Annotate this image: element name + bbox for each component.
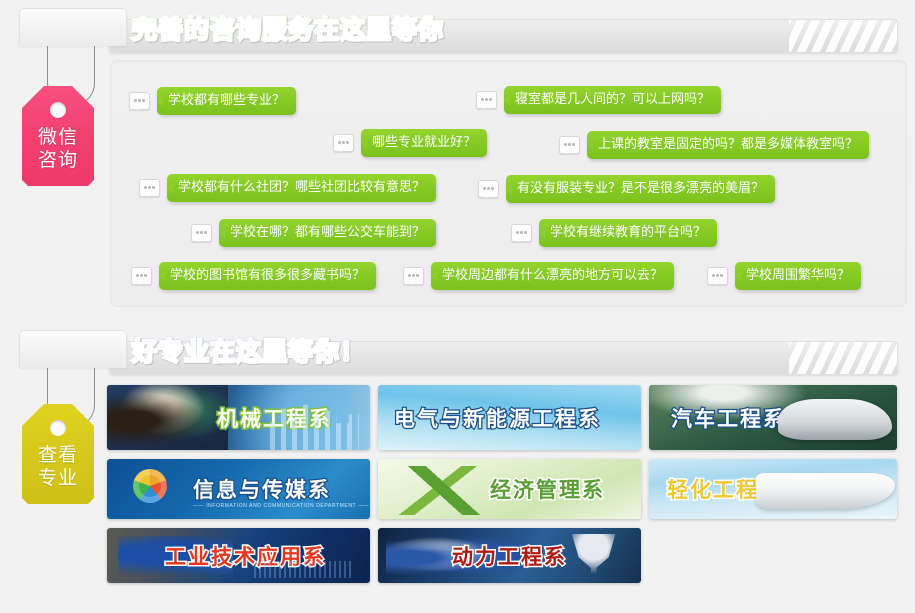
- speech-bubble-icon: [333, 134, 354, 152]
- department-card[interactable]: 电气与新能源工程系: [378, 385, 641, 450]
- chat-question-text: 有没有服装专业？是不是很多漂亮的美眉？: [506, 175, 775, 203]
- chat-question-row[interactable]: 哪些专业就业好？: [333, 129, 487, 157]
- chat-question-text: 学校周边都有什么漂亮的地方可以去？: [431, 262, 674, 290]
- speech-bubble-icon: [559, 136, 580, 154]
- majors-header-tab: [19, 330, 127, 368]
- chat-question-row[interactable]: 有没有服装专业？是不是很多漂亮的美眉？: [478, 175, 775, 203]
- chat-question-row[interactable]: 上课的教室是固定的吗？都是多媒体教室吗？: [559, 131, 869, 159]
- chat-question-text: 学校的图书馆有很多很多藏书吗？: [159, 262, 376, 290]
- department-card[interactable]: 机械工程系: [107, 385, 370, 450]
- department-name: 机械工程系: [217, 403, 332, 433]
- tag-hole-icon-2: [50, 420, 66, 436]
- department-card[interactable]: 轻化工程系: [649, 459, 897, 519]
- tag-hole-icon: [50, 102, 66, 118]
- speech-bubble-icon: [139, 179, 160, 197]
- chat-question-row[interactable]: 学校都有哪些专业？: [129, 87, 296, 115]
- chat-question-row[interactable]: 寝室都是几人间的？可以上网吗？: [476, 86, 721, 114]
- chat-question-text: 学校都有哪些专业？: [157, 87, 296, 115]
- speech-bubble-icon: [129, 92, 150, 110]
- chat-question-text: 学校都有什么社团？哪些社团比较有意思？: [167, 174, 436, 202]
- consult-header: 完善的咨询服务在这里等你: [19, 8, 896, 50]
- department-subtitle: —— INFORMATION AND COMMUNICATION DEPARTM…: [193, 503, 369, 509]
- chat-question-panel: 学校都有哪些专业？寝室都是几人间的？可以上网吗？哪些专业就业好？上课的教室是固定…: [110, 60, 907, 307]
- chat-question-row[interactable]: 学校在哪？都有哪些公交车能到？: [191, 219, 436, 247]
- chat-question-row[interactable]: 学校周围繁华吗？: [707, 262, 861, 290]
- majors-title: 好专业在这里等你！: [132, 332, 366, 368]
- department-card[interactable]: 工业技术应用系: [107, 528, 370, 583]
- chat-question-row[interactable]: 学校有继续教育的平台吗？: [511, 219, 717, 247]
- chat-question-row[interactable]: 学校周边都有什么漂亮的地方可以去？: [403, 262, 674, 290]
- majors-header: 好专业在这里等你！: [19, 330, 896, 372]
- department-card[interactable]: 信息与传媒系—— INFORMATION AND COMMUNICATION D…: [107, 459, 370, 519]
- speech-bubble-icon: [707, 267, 728, 285]
- chat-question-row[interactable]: 学校都有什么社团？哪些社团比较有意思？: [139, 174, 436, 202]
- department-name: 汽车工程系: [671, 403, 786, 433]
- department-card[interactable]: 动力工程系: [378, 528, 641, 583]
- department-card[interactable]: 经济管理系: [378, 459, 641, 519]
- majors-tag-line2: 专业: [38, 467, 78, 490]
- chat-question-text: 哪些专业就业好？: [361, 129, 487, 157]
- stripes-decor-2: [789, 342, 897, 374]
- chat-question-text: 上课的教室是固定的吗？都是多媒体教室吗？: [587, 131, 869, 159]
- speech-bubble-icon: [131, 267, 152, 285]
- stripes-decor: [789, 20, 897, 52]
- speech-bubble-icon: [403, 267, 424, 285]
- speech-bubble-icon: [476, 91, 497, 109]
- chat-question-text: 学校周围繁华吗？: [735, 262, 861, 290]
- wechat-tag-line2: 咨询: [38, 149, 78, 172]
- department-name: 经济管理系: [490, 474, 605, 504]
- chat-question-row[interactable]: 学校的图书馆有很多很多藏书吗？: [131, 262, 376, 290]
- wechat-consult-tag[interactable]: 微信 咨询: [22, 86, 94, 186]
- speech-bubble-icon: [511, 224, 532, 242]
- consult-title: 完善的咨询服务在这里等你: [132, 10, 444, 46]
- department-name: 信息与传媒系: [193, 474, 331, 504]
- department-name: 工业技术应用系: [165, 541, 326, 571]
- majors-tag-line1: 查看: [38, 444, 78, 467]
- speech-bubble-icon: [478, 180, 499, 198]
- chat-question-text: 学校在哪？都有哪些公交车能到？: [219, 219, 436, 247]
- wechat-tag-line1: 微信: [38, 126, 78, 149]
- department-name: 轻化工程系: [667, 474, 782, 504]
- department-card[interactable]: 汽车工程系: [649, 385, 897, 450]
- speech-bubble-icon: [191, 224, 212, 242]
- chat-question-text: 寝室都是几人间的？可以上网吗？: [504, 86, 721, 114]
- consult-header-tab: [19, 8, 127, 46]
- department-name: 动力工程系: [452, 541, 567, 571]
- department-name: 电气与新能源工程系: [394, 403, 601, 433]
- view-majors-tag[interactable]: 查看 专业: [22, 404, 94, 504]
- chat-question-text: 学校有继续教育的平台吗？: [539, 219, 717, 247]
